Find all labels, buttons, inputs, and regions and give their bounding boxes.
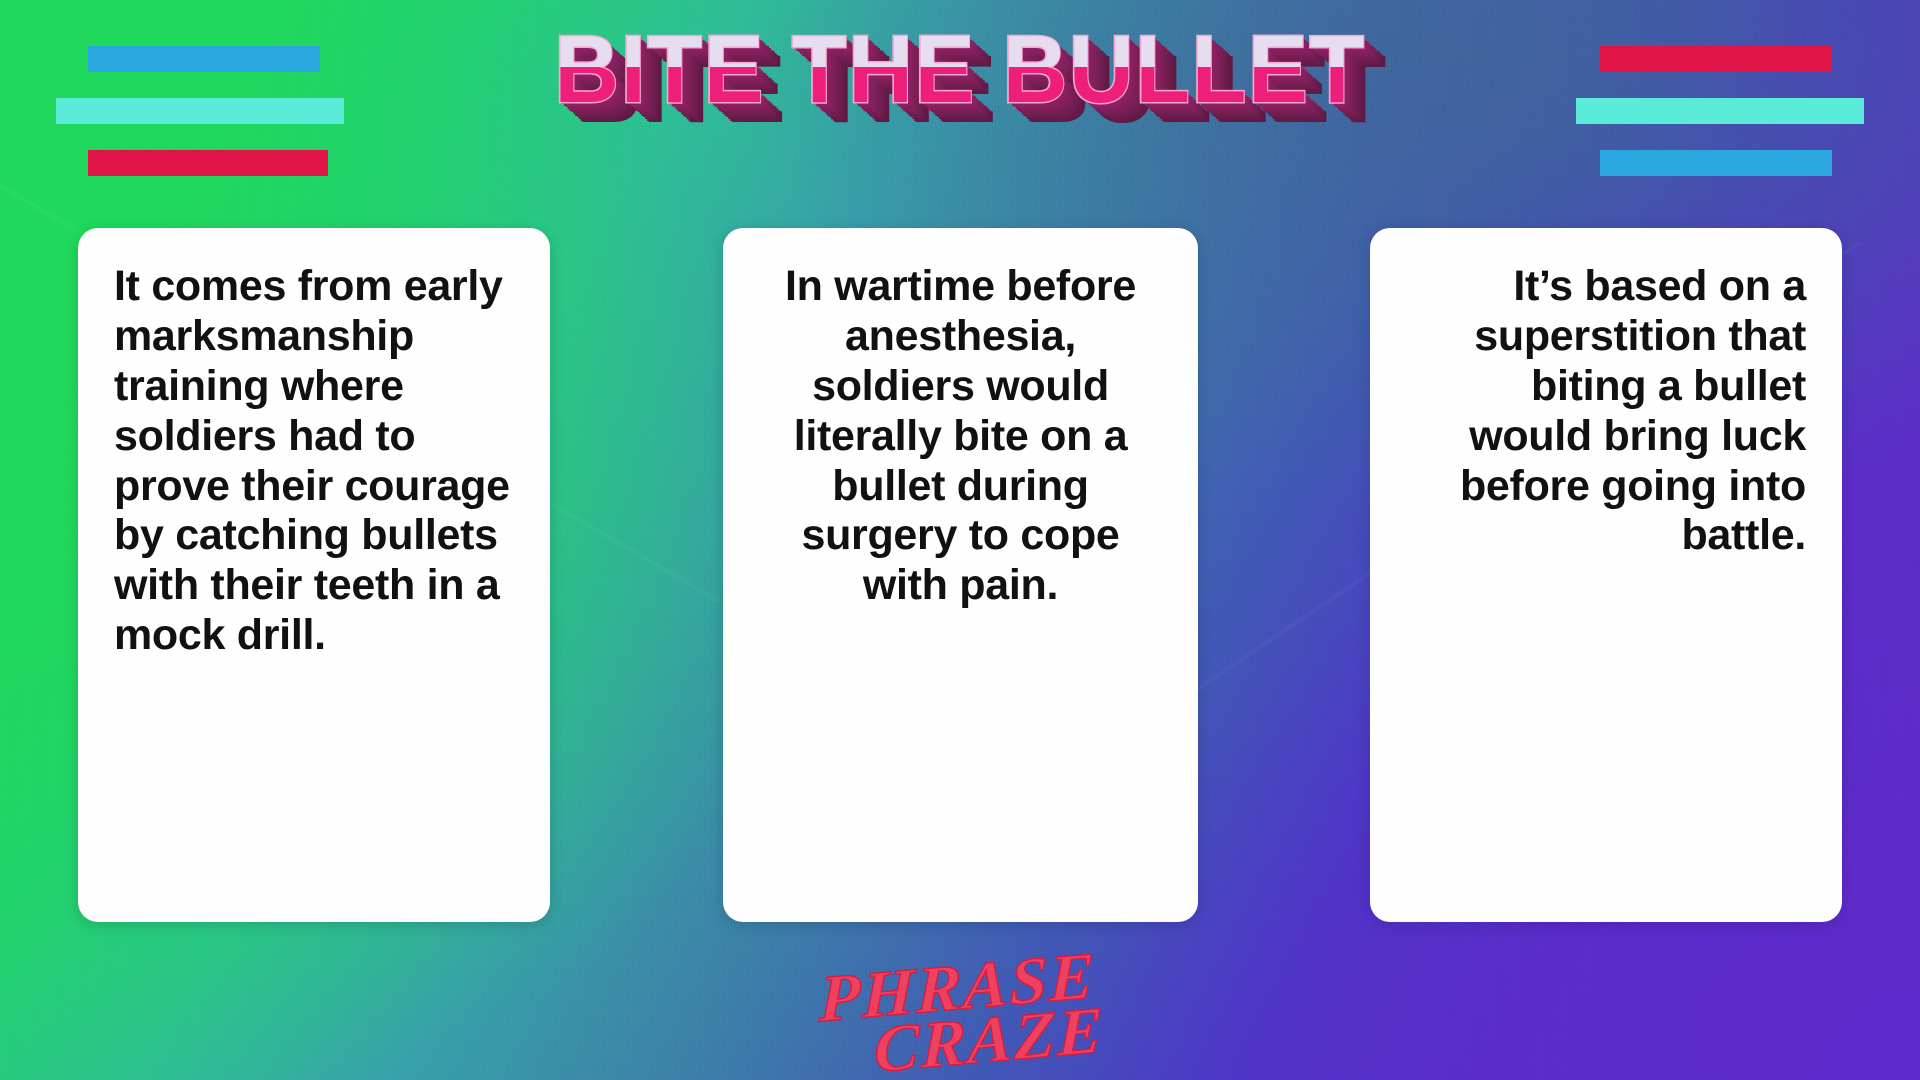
crimson-bar [88,150,328,176]
crimson-bar [1600,46,1832,72]
page-title: BITE THE BULLET BITE THE BULLET BITE THE… [430,22,1490,118]
fact-card-text: It comes from early marksmanship trainin… [114,262,514,661]
fact-card[interactable]: In wartime before anesthesia, soldiers w… [723,228,1198,922]
brand-logo: PHRASE CRAZE [815,945,1105,1080]
brand-logo-line-2: CRAZE [874,1000,1105,1080]
blue-bar [1600,150,1832,176]
cyan-bar [56,98,344,124]
blue-bar [88,46,320,72]
page-title-text: BITE THE BULLET [554,22,1366,118]
fact-card[interactable]: It comes from early marksmanship trainin… [78,228,550,922]
fact-card-text: In wartime before anesthesia, soldiers w… [759,262,1162,611]
fact-card-text: It’s based on a superstition that biting… [1406,262,1806,561]
cyan-bar [1576,98,1864,124]
fact-card[interactable]: It’s based on a superstition that biting… [1370,228,1842,922]
